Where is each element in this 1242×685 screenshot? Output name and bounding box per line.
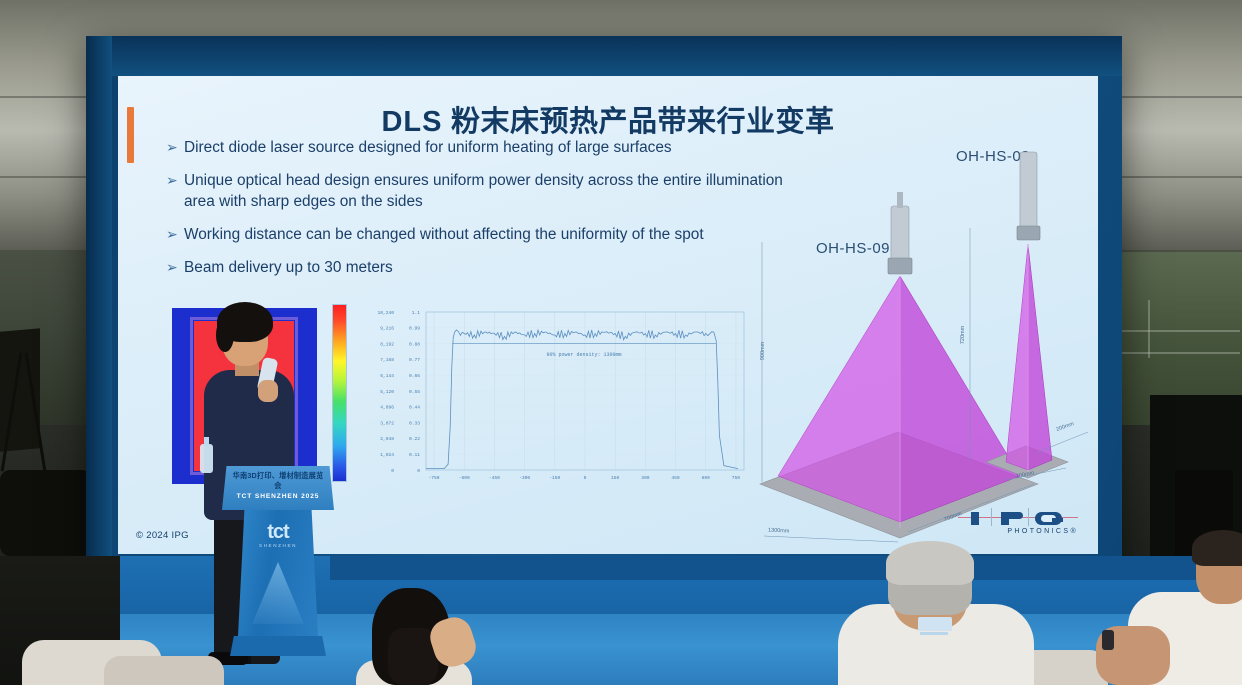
- svg-text:150: 150: [611, 475, 620, 481]
- audience-man2-watch: [1102, 630, 1114, 650]
- small-beam-right-face: [1028, 244, 1052, 470]
- large-optical-head-mount: [888, 258, 912, 274]
- large-optical-head-body: [891, 206, 909, 260]
- svg-text:0.44: 0.44: [409, 405, 420, 411]
- bullet-text: Direct diode laser source designed for u…: [184, 138, 786, 158]
- chart-profile-line: [426, 330, 738, 469]
- venue-post: [1148, 300, 1150, 358]
- logo-letter-g: [1032, 507, 1066, 526]
- bullet-text: Unique optical head design ensures unifo…: [184, 171, 786, 212]
- svg-text:-600: -600: [459, 475, 470, 481]
- logo-wordmark: PHOTONICS®: [958, 528, 1078, 535]
- svg-text:0: 0: [584, 475, 587, 481]
- equipment-case: [0, 470, 92, 556]
- slide-title-en: DLS: [381, 106, 442, 138]
- podium-sign-cn: 华南3D打印、增材制造展览会: [230, 471, 326, 491]
- svg-text:9,216: 9,216: [380, 326, 394, 332]
- stage-wall-upper: [330, 556, 1242, 580]
- chart-y-axis-normalized: 00.110.220.330.440.550.660.770.880.991.1: [409, 310, 420, 474]
- svg-text:450: 450: [671, 475, 680, 481]
- large-height-dim: 900mm: [760, 342, 766, 360]
- bullet-marker-icon: ➢: [166, 258, 184, 276]
- svg-text:2,048: 2,048: [380, 436, 394, 442]
- svg-text:-750: -750: [429, 475, 440, 481]
- small-optical-head-mount: [1017, 226, 1040, 240]
- podium-sign: 华南3D打印、增材制造展览会 TCT SHENZHEN 2025: [230, 471, 326, 500]
- slide-bullet-list: ➢ Direct diode laser source designed for…: [166, 138, 786, 292]
- svg-text:600: 600: [702, 475, 711, 481]
- svg-text:0.66: 0.66: [409, 373, 420, 379]
- svg-text:4,096: 4,096: [380, 405, 394, 411]
- svg-text:0: 0: [391, 468, 394, 474]
- chart-svg: 01,0242,0483,0724,0965,1206,1447,1688,19…: [358, 298, 758, 498]
- bullet-text: Working distance can be changed without …: [184, 225, 786, 245]
- podium-sign-en: TCT SHENZHEN 2025: [230, 493, 326, 500]
- presentation-scene: DLS 粉末床预热产品带来行业变革 ➢ Direct diode laser s…: [0, 0, 1242, 685]
- podium-top-panel: 华南3D打印、增材制造展览会 TCT SHENZHEN 2025: [222, 466, 334, 510]
- bottle-body: [200, 444, 213, 473]
- chart-x-axis: -750-600-450-300-1500150300450600750: [429, 475, 741, 481]
- bullet-marker-icon: ➢: [166, 225, 184, 243]
- svg-text:300: 300: [641, 475, 650, 481]
- svg-text:0.77: 0.77: [409, 357, 420, 363]
- svg-text:0.99: 0.99: [409, 326, 420, 332]
- audience-man-hair-top: [886, 541, 974, 585]
- podium-logo-text: tct: [256, 522, 300, 542]
- bullet-item: ➢ Working distance can be changed withou…: [166, 225, 786, 245]
- bullet-item: ➢ Direct diode laser source designed for…: [166, 138, 786, 158]
- svg-text:0.22: 0.22: [409, 436, 420, 442]
- podium: 华南3D打印、增材制造展览会 TCT SHENZHEN 2025 tct SHE…: [222, 466, 334, 668]
- podium-logo: tct SHENZHEN: [256, 522, 300, 548]
- heatmap-colorbar: [332, 304, 347, 482]
- bullet-marker-icon: ➢: [166, 171, 184, 189]
- bottle-cap: [204, 437, 209, 446]
- bullet-item: ➢ Beam delivery up to 30 meters: [166, 258, 786, 278]
- frame-top-bar: [86, 36, 1122, 76]
- small-optical-head-body: [1020, 152, 1037, 228]
- svg-text:-150: -150: [549, 475, 560, 481]
- small-beam-left-face: [1006, 244, 1028, 470]
- beam-profile-chart: 01,0242,0483,0724,0965,1206,1447,1688,19…: [358, 298, 758, 498]
- chart-annotation: 90% power density: 1300mm: [546, 352, 621, 358]
- podium-base: [230, 636, 326, 656]
- chart-y-axis-counts: 01,0242,0483,0724,0965,1206,1447,1688,19…: [377, 310, 394, 474]
- audience-man-badge: [918, 617, 952, 631]
- svg-text:10,240: 10,240: [377, 310, 394, 316]
- svg-text:7,168: 7,168: [380, 357, 394, 363]
- large-width-dim-line: [764, 536, 898, 542]
- presenter-hair-side: [216, 318, 234, 352]
- svg-text:0.11: 0.11: [409, 452, 420, 458]
- svg-text:-300: -300: [519, 475, 530, 481]
- audience-man-badge-strap: [920, 632, 948, 635]
- svg-text:8,192: 8,192: [380, 341, 394, 347]
- svg-text:0.33: 0.33: [409, 420, 420, 426]
- small-height-dim: 720mm: [960, 326, 966, 344]
- ipg-photonics-logo: PHOTONICS®: [958, 506, 1078, 540]
- podium-logo-sub: SHENZHEN: [256, 543, 300, 548]
- svg-text:0.88: 0.88: [409, 341, 420, 347]
- large-head-connector: [897, 192, 903, 208]
- slide-copyright: © 2024 IPG: [136, 530, 189, 541]
- laser-beam-diagrams: OH-HS-09 OH-HS-03: [748, 132, 1098, 552]
- diagrams-svg: [748, 132, 1098, 552]
- bullet-marker-icon: ➢: [166, 138, 184, 156]
- svg-text:5,120: 5,120: [380, 389, 394, 395]
- large-width-dim: 1300mm: [768, 527, 790, 534]
- presenter-hand: [258, 380, 278, 402]
- svg-text:1.1: 1.1: [412, 310, 421, 316]
- frame-left-bar: [86, 36, 112, 592]
- logo-letters: [958, 506, 1078, 526]
- svg-text:1,024: 1,024: [380, 452, 394, 458]
- svg-text:6,144: 6,144: [380, 373, 394, 379]
- logo-letter-p: [995, 507, 1029, 526]
- bullet-text: Beam delivery up to 30 meters: [184, 258, 786, 278]
- water-bottle: [200, 437, 213, 473]
- svg-text:750: 750: [732, 475, 741, 481]
- svg-text:-450: -450: [489, 475, 500, 481]
- svg-text:3,072: 3,072: [380, 420, 394, 426]
- bullet-item: ➢ Unique optical head design ensures uni…: [166, 171, 786, 212]
- audience-man2-hair: [1192, 530, 1242, 566]
- svg-text:0: 0: [417, 468, 420, 474]
- logo-letter-i: [958, 507, 992, 526]
- svg-text:0.55: 0.55: [409, 389, 420, 395]
- chair-left-2: [104, 656, 224, 685]
